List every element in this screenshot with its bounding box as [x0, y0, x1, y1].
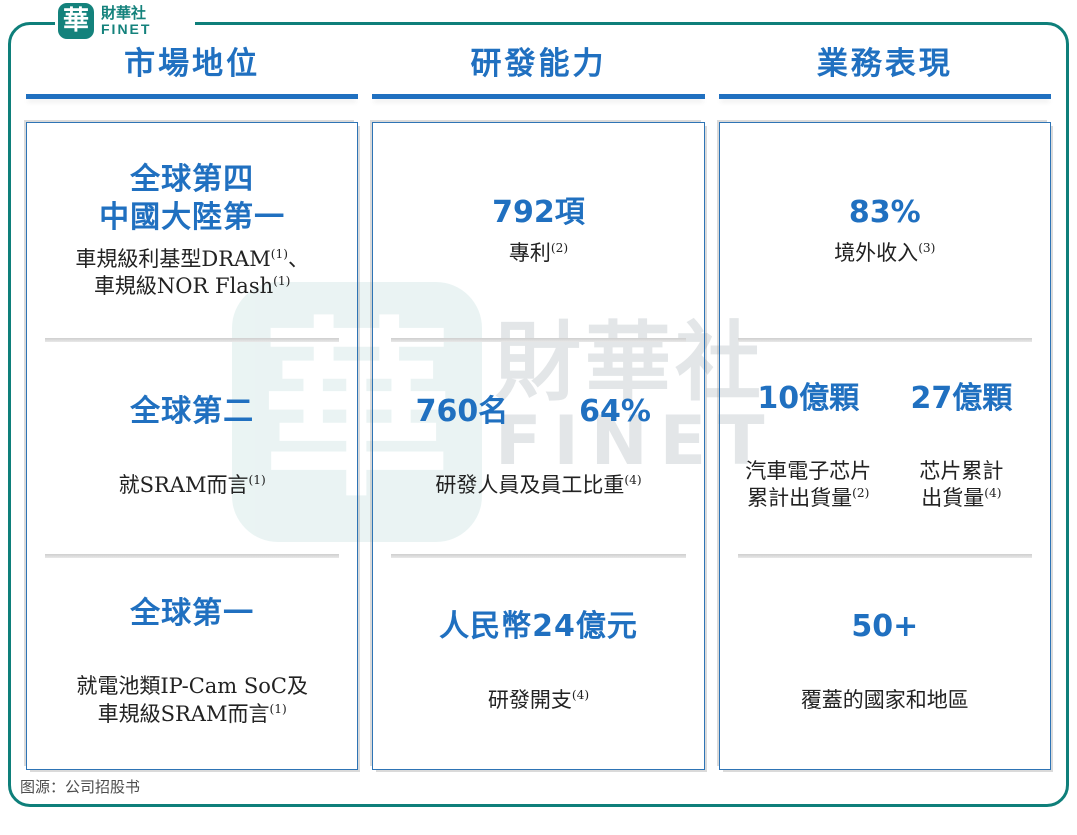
stat-caption-line1: 車規級利基型DRAM	[75, 247, 270, 271]
stat-cell: 全球第一 就電池類IP-Cam SoC及 車規級SRAM而言(1)	[27, 554, 357, 769]
stat-headline: 83%	[849, 194, 921, 232]
stat-caption-line2: 車規級SRAM而言	[98, 702, 270, 726]
column-title: 業務表現	[715, 38, 1055, 90]
column-card: 83% 境外收入(3) 10億顆 27億顆 汽車電子芯片 累計出貨量(2) 芯片…	[719, 122, 1051, 770]
stat-cell: 760名 64% 研發人員及員工比重(4)	[373, 338, 703, 553]
stat-caption-right-line2: 出貨量	[921, 486, 984, 510]
stat-caption: 就SRAM而言(1)	[119, 472, 266, 499]
stat-caption-line1: 境外收入	[834, 241, 918, 265]
stat-caption-right: 芯片累計 出貨量(4)	[885, 458, 1038, 513]
column-market-position: 市場地位 全球第四 中國大陸第一 車規級利基型DRAM(1)、 車規級NOR F…	[22, 38, 362, 835]
stat-headline: 全球第四	[130, 161, 254, 199]
stat-cell: 全球第二 就SRAM而言(1)	[27, 338, 357, 553]
stat-caption: 研發開支(4)	[488, 687, 589, 714]
stat-headline-secondary: 中國大陸第一	[99, 199, 285, 237]
footnote-ref: (4)	[572, 688, 589, 702]
column-card: 全球第四 中國大陸第一 車規級利基型DRAM(1)、 車規級NOR Flash(…	[26, 122, 358, 770]
footnote-ref: (4)	[624, 473, 641, 487]
footnote-ref: (1)	[271, 247, 288, 261]
stat-headline-right: 27億顆	[885, 380, 1038, 418]
column-business-performance: 業務表現 83% 境外收入(3) 10億顆 27億顆 汽車電子芯片 累計出貨量(…	[715, 38, 1055, 835]
stat-headline-left: 10億顆	[732, 380, 885, 418]
stat-caption-right-line1: 芯片累計	[919, 459, 1003, 483]
stat-caption-left-line1: 汽車電子芯片	[745, 459, 871, 483]
stat-headline: 人民幣24億元	[439, 608, 638, 646]
stat-cell: 792項 專利(2)	[373, 123, 703, 338]
stat-cell: 人民幣24億元 研發開支(4)	[373, 554, 703, 769]
column-underline	[719, 94, 1051, 99]
column-title: 研發能力	[368, 38, 708, 90]
stat-caption: 就電池類IP-Cam SoC及 車規級SRAM而言(1)	[76, 673, 308, 728]
footnote-ref: (3)	[918, 241, 935, 255]
footnote-ref: (4)	[984, 486, 1001, 500]
stat-caption-left-line2: 累計出貨量	[747, 486, 852, 510]
column-card: 792項 專利(2) 760名 64% 研發人員及員工比重(4) 人民幣24億元…	[372, 122, 704, 770]
stat-caption: 專利(2)	[509, 240, 568, 267]
footnote-ref: (2)	[852, 486, 869, 500]
stat-caption-left: 汽車電子芯片 累計出貨量(2)	[732, 458, 885, 513]
stat-headline: 792項	[492, 194, 585, 232]
stat-cell: 全球第四 中國大陸第一 車規級利基型DRAM(1)、 車規級NOR Flash(…	[27, 123, 357, 338]
stat-headline: 50+	[851, 608, 918, 646]
footnote-ref: (1)	[248, 473, 265, 487]
stat-caption-line1: 就電池類IP-Cam SoC及	[76, 674, 308, 698]
stat-cell: 10億顆 27億顆 汽車電子芯片 累計出貨量(2) 芯片累計 出貨量(4)	[720, 338, 1050, 553]
stat-headline-pair: 10億顆 27億顆	[732, 380, 1038, 418]
brand-name-en: FINET	[101, 22, 151, 36]
column-title: 市場地位	[22, 38, 362, 90]
infographic-columns: 市場地位 全球第四 中國大陸第一 車規級利基型DRAM(1)、 車規級NOR F…	[0, 0, 1077, 835]
stat-headline-pair: 760名 64%	[385, 393, 691, 431]
stat-caption-line1: 研發開支	[488, 688, 572, 712]
stat-caption-line1: 專利	[509, 241, 551, 265]
stat-caption: 研發人員及員工比重(4)	[435, 472, 641, 499]
stat-caption: 車規級利基型DRAM(1)、 車規級NOR Flash(1)	[75, 246, 309, 301]
stat-headline: 全球第一	[130, 595, 254, 633]
stat-cell: 83% 境外收入(3)	[720, 123, 1050, 338]
stat-caption-line1: 研發人員及員工比重	[435, 473, 624, 497]
source-note: 图源：公司招股书	[20, 776, 140, 797]
stat-caption-line2: 車規級NOR Flash	[94, 274, 273, 298]
stat-caption: 覆蓋的國家和地區	[801, 687, 969, 714]
brand-wordmark: 財華社 FINET	[101, 6, 151, 36]
stat-caption-pair: 汽車電子芯片 累計出貨量(2) 芯片累計 出貨量(4)	[732, 458, 1038, 513]
finet-seal-icon: 華	[58, 3, 94, 39]
footnote-ref: (1)	[273, 274, 290, 288]
stat-headline: 全球第二	[130, 393, 254, 431]
column-underline	[26, 94, 358, 99]
column-underline	[372, 94, 704, 99]
brand-logo: 華 財華社 FINET	[58, 2, 151, 40]
footnote-ref: (2)	[551, 241, 568, 255]
column-rd-capability: 研發能力 792項 專利(2) 760名 64% 研發人員及員工比重(4) 人民…	[368, 38, 708, 835]
stat-headline-left: 760名	[385, 393, 538, 431]
stat-caption-line1: 就SRAM而言	[119, 473, 249, 497]
footnote-ref: (1)	[269, 702, 286, 716]
stat-caption-separator: 、	[288, 247, 309, 271]
stat-caption: 境外收入(3)	[834, 240, 935, 267]
stat-cell: 50+ 覆蓋的國家和地區	[720, 554, 1050, 769]
brand-name-cn: 財華社	[101, 6, 151, 21]
stat-caption-line1: 覆蓋的國家和地區	[801, 688, 969, 712]
stat-headline-right: 64%	[539, 393, 692, 431]
